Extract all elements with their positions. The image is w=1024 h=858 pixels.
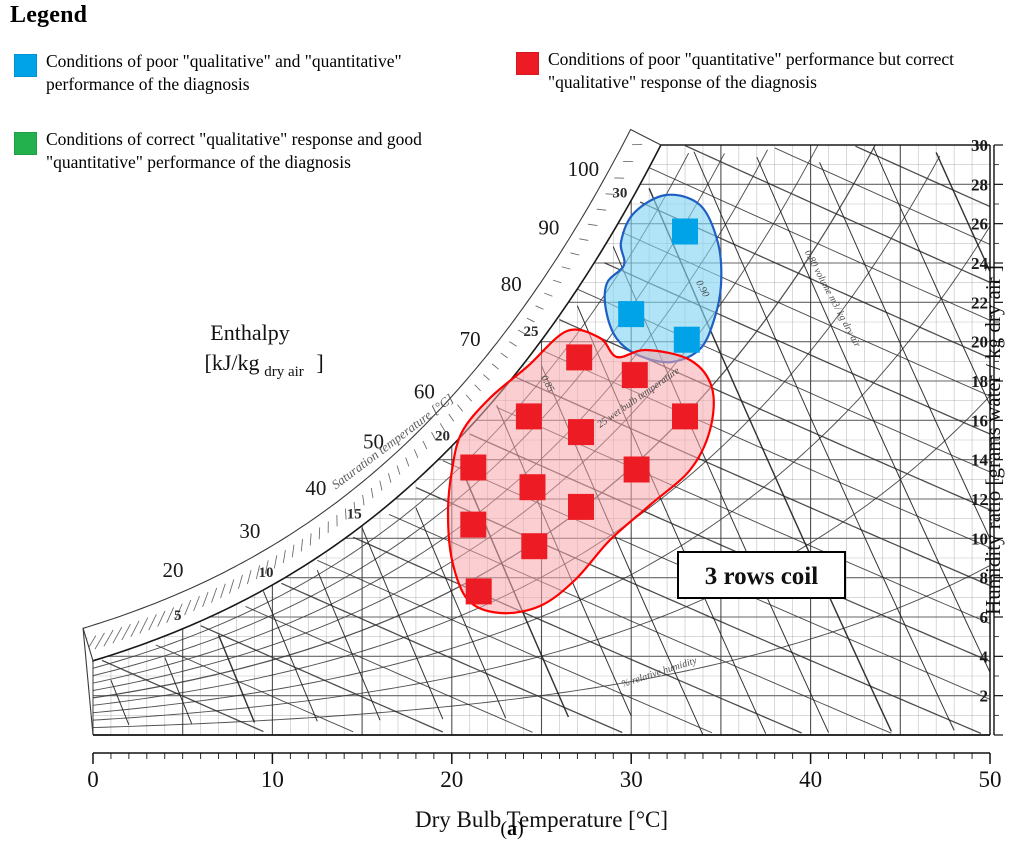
- data-marker: [516, 403, 542, 429]
- data-marker: [566, 344, 592, 370]
- data-marker: [460, 455, 486, 481]
- data-marker: [521, 533, 547, 559]
- x-axis-tick-label: 20: [440, 767, 463, 792]
- data-marker: [568, 419, 594, 445]
- enthalpy-tick-label: 80: [501, 272, 522, 296]
- x-axis-tick-label: 0: [87, 767, 99, 792]
- enthalpy-tick-label: 60: [414, 380, 435, 404]
- chart-canvas: 2030405060708090100 51015202530 01020304…: [0, 128, 1024, 858]
- data-marker: [672, 403, 698, 429]
- legend-swatch-red-icon: [516, 52, 539, 75]
- saturation-tick-label: 20: [435, 428, 450, 444]
- legend-title: Legend: [10, 2, 87, 29]
- y-axis-tick-label: 28: [971, 175, 988, 194]
- figure-root: Legend Conditions of poor "qualitative" …: [0, 0, 1024, 858]
- saturation-tick-label: 15: [347, 507, 362, 523]
- annotation-box: 3 rows coil: [678, 552, 845, 598]
- data-marker: [622, 362, 648, 388]
- x-axis-tick-label: 50: [979, 767, 1002, 792]
- enthalpy-tick-label: 40: [305, 476, 326, 500]
- legend-item-blue: Conditions of poor "qualitative" and "qu…: [14, 50, 494, 96]
- y-axis-title: Humidity ratio [grams water / kg dry air…: [981, 265, 1005, 615]
- data-marker: [624, 457, 650, 483]
- enthalpy-axis-title-bracket: ]: [316, 350, 323, 375]
- enthalpy-axis-title-subscript: dry air: [264, 364, 304, 380]
- x-axis-tick-label: 40: [799, 767, 822, 792]
- figure-caption-letter: a: [507, 818, 517, 840]
- enthalpy-tick-label: 20: [163, 558, 184, 582]
- data-marker: [466, 578, 492, 604]
- saturation-tick-label: 25: [524, 324, 539, 340]
- enthalpy-axis-title-line1: Enthalpy: [210, 320, 289, 345]
- data-marker: [460, 512, 486, 538]
- psychrometric-chart: 2030405060708090100 51015202530 01020304…: [0, 128, 1024, 858]
- data-marker: [520, 474, 546, 500]
- data-marker: [618, 301, 644, 327]
- x-axis-tick-label: 10: [261, 767, 284, 792]
- legend-label-red: Conditions of poor "quantitative" perfor…: [548, 48, 1016, 94]
- annotation-label: 3 rows coil: [705, 563, 818, 590]
- saturation-tick-label: 30: [612, 185, 627, 201]
- y-axis-right: 24681012141618202224262830Humidity ratio…: [971, 136, 1005, 735]
- x-axis-tick-label: 30: [620, 767, 643, 792]
- data-marker: [674, 327, 700, 353]
- legend-swatch-blue-icon: [14, 54, 37, 77]
- saturation-tick-label: 5: [174, 608, 182, 624]
- y-axis-tick-label: 30: [971, 136, 988, 155]
- enthalpy-tick-label: 90: [538, 215, 559, 239]
- y-axis-tick-label: 2: [980, 687, 989, 706]
- data-marker: [672, 219, 698, 245]
- data-marker: [568, 494, 594, 520]
- legend-item-red: Conditions of poor "quantitative" perfor…: [516, 48, 1016, 94]
- enthalpy-axis-title-line2: [kJ/kg: [205, 350, 260, 375]
- enthalpy-tick-label: 70: [460, 327, 481, 351]
- figure-caption: (a): [0, 818, 1024, 841]
- y-axis-tick-label: 4: [980, 647, 989, 666]
- enthalpy-tick-label: 30: [239, 519, 260, 543]
- y-axis-tick-label: 26: [971, 215, 988, 234]
- legend-label-blue: Conditions of poor "qualitative" and "qu…: [46, 50, 494, 96]
- enthalpy-tick-label: 100: [568, 157, 600, 181]
- saturation-tick-label: 10: [259, 565, 274, 581]
